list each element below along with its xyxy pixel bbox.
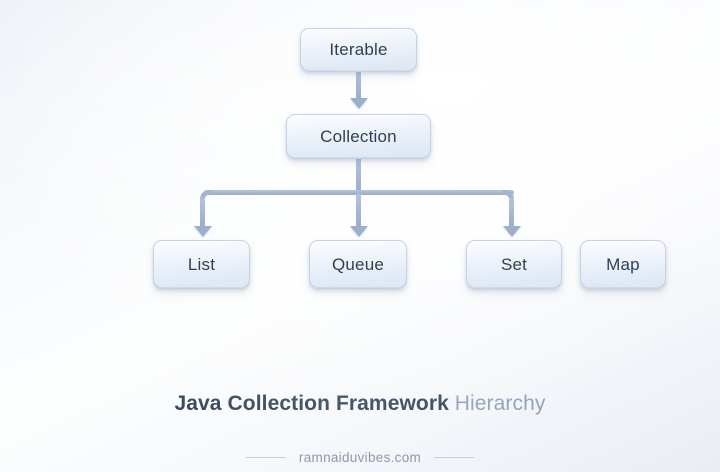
node-list[interactable]: List (153, 240, 250, 289)
edge-collection-set-arrowhead (503, 226, 521, 237)
node-map-label: Map (606, 255, 640, 275)
node-list-label: List (188, 255, 215, 275)
node-set[interactable]: Set (466, 240, 562, 289)
edge-collection-list-line (200, 198, 205, 228)
node-map[interactable]: Map (580, 240, 666, 289)
diagram-title-strong: Java Collection Framework (174, 392, 448, 415)
footer-url: ramnaiduvibes.com (299, 450, 421, 465)
edge-collection-queue-line (356, 194, 361, 228)
diagram-canvas: Iterable Collection List Queue Set Map J… (0, 0, 720, 472)
edge-collection-list-arrowhead (194, 226, 212, 237)
node-queue[interactable]: Queue (309, 240, 407, 289)
node-collection[interactable]: Collection (286, 114, 431, 159)
diagram-title: Java Collection Framework Hierarchy (0, 392, 720, 416)
footer-rule-right (434, 457, 474, 458)
edge-collection-queue-arrowhead (350, 226, 368, 237)
footer: ramnaiduvibes.com (0, 450, 720, 465)
diagram-title-light: Hierarchy (455, 392, 546, 415)
node-collection-label: Collection (320, 127, 397, 147)
edge-iterable-collection-arrowhead (350, 98, 368, 109)
node-iterable-label: Iterable (329, 40, 387, 60)
node-set-label: Set (501, 255, 527, 275)
edge-iterable-collection-line (356, 70, 361, 100)
node-iterable[interactable]: Iterable (300, 28, 417, 72)
edge-collection-bus-stem (356, 158, 361, 194)
footer-rule-left (246, 457, 286, 458)
edge-collection-set-line (509, 198, 514, 228)
node-queue-label: Queue (332, 255, 384, 275)
